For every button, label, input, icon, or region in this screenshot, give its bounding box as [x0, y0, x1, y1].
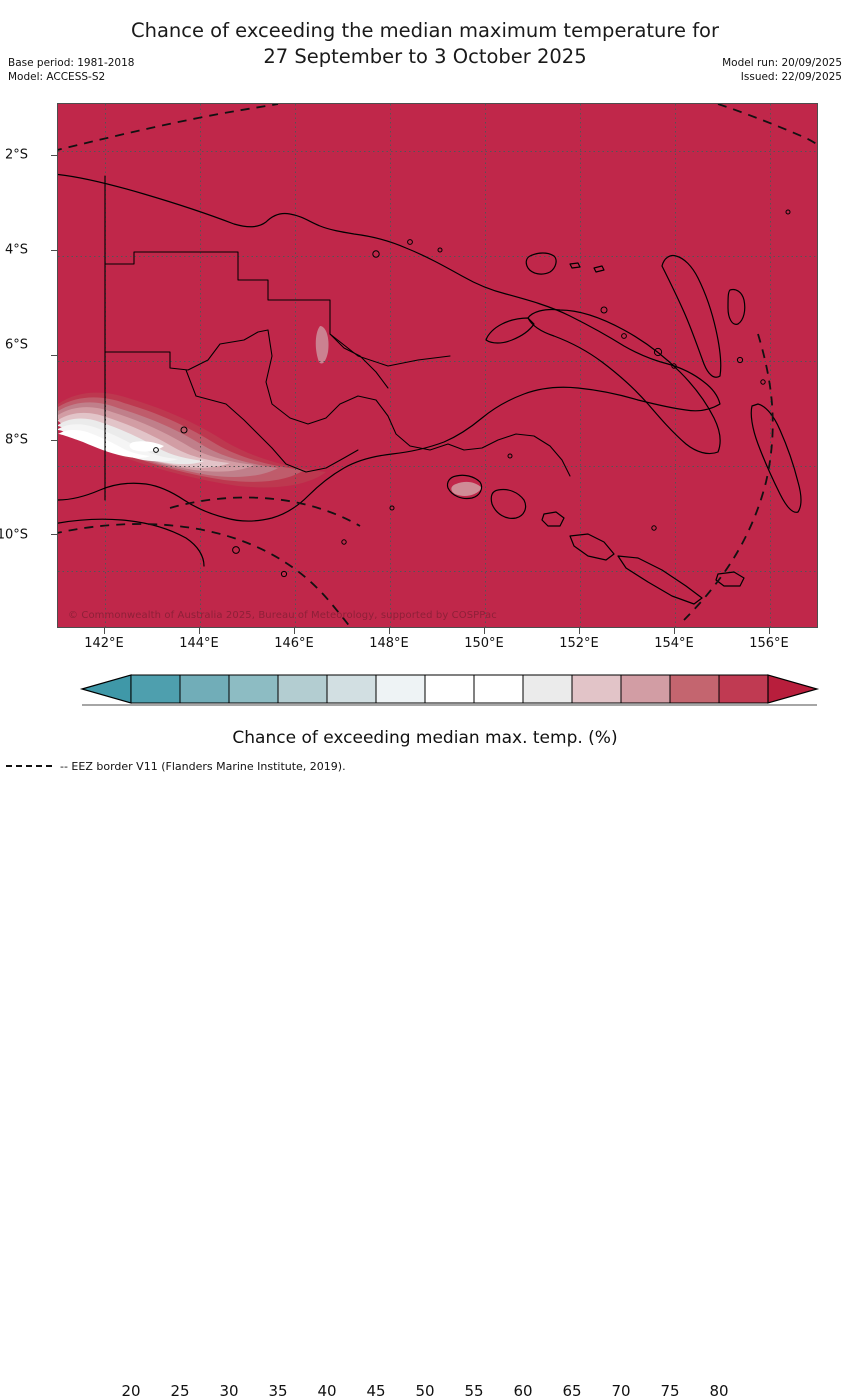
- colorbar-tick-30: 30: [219, 1382, 238, 1400]
- colorbar-tick-75: 75: [660, 1382, 679, 1400]
- colorbar-tick-40: 40: [317, 1382, 336, 1400]
- colorbar-tick-20: 20: [121, 1382, 140, 1400]
- map-canvas: [58, 104, 817, 627]
- base-period-text: Base period: 1981-2018: [8, 56, 134, 70]
- model-run-text: Model run: 20/09/2025: [722, 56, 842, 70]
- colorbar-cells: [131, 675, 768, 703]
- probability-field-base: [58, 104, 817, 627]
- climate-outlook-figure: Chance of exceeding the median maximum t…: [0, 0, 850, 781]
- model-metadata-right: Model run: 20/09/2025 Issued: 22/09/2025: [722, 56, 842, 84]
- colorbar-tick-55: 55: [464, 1382, 483, 1400]
- x-tick-label-142e: 142°E: [84, 636, 124, 651]
- colorbar-tick-45: 45: [366, 1382, 385, 1400]
- colorbar[interactable]: 20 25 30 35 40 45 50 55 60 65 70 75 80: [0, 672, 850, 708]
- map-credit-text: © Commonwealth of Australia 2025, Bureau…: [68, 610, 497, 621]
- colorbar-extend-max: [768, 675, 817, 703]
- x-tick-label-146e: 146°E: [274, 636, 314, 651]
- y-tick-label-4s: 4°S: [5, 243, 28, 258]
- colorbar-tick-25: 25: [170, 1382, 189, 1400]
- eez-dash-sample-icon: [6, 765, 52, 768]
- y-tick-label-10s: 10°S: [0, 528, 28, 543]
- colorbar-tick-35: 35: [268, 1382, 287, 1400]
- y-tick-label-6s: 6°S: [5, 338, 28, 353]
- x-tick-label-150e: 150°E: [464, 636, 504, 651]
- colorbar-tick-50: 50: [415, 1382, 434, 1400]
- y-tick-label-8s: 8°S: [5, 433, 28, 448]
- model-name-text: Model: ACCESS-S2: [8, 70, 134, 84]
- colorbar-canvas: [0, 672, 850, 708]
- x-tick-label-154e: 154°E: [654, 636, 694, 651]
- x-tick-label-148e: 148°E: [369, 636, 409, 651]
- colorbar-tick-60: 60: [513, 1382, 532, 1400]
- issued-date-text: Issued: 22/09/2025: [722, 70, 842, 84]
- colorbar-tick-65: 65: [562, 1382, 581, 1400]
- eez-legend-text: -- EEZ border V11 (Flanders Marine Insti…: [60, 760, 346, 773]
- x-tick-label-156e: 156°E: [749, 636, 789, 651]
- map-panel[interactable]: © Commonwealth of Australia 2025, Bureau…: [57, 103, 818, 628]
- model-metadata-left: Base period: 1981-2018 Model: ACCESS-S2: [8, 56, 134, 84]
- colorbar-tick-80: 80: [709, 1382, 728, 1400]
- y-tick-label-2s: 2°S: [5, 148, 28, 163]
- x-tick-label-144e: 144°E: [179, 636, 219, 651]
- colorbar-extend-min: [82, 675, 131, 703]
- colorbar-axis-label: Chance of exceeding median max. temp. (%…: [0, 728, 850, 748]
- footer-eez-legend: -- EEZ border V11 (Flanders Marine Insti…: [6, 760, 346, 773]
- x-tick-label-152e: 152°E: [559, 636, 599, 651]
- colorbar-tick-70: 70: [611, 1382, 630, 1400]
